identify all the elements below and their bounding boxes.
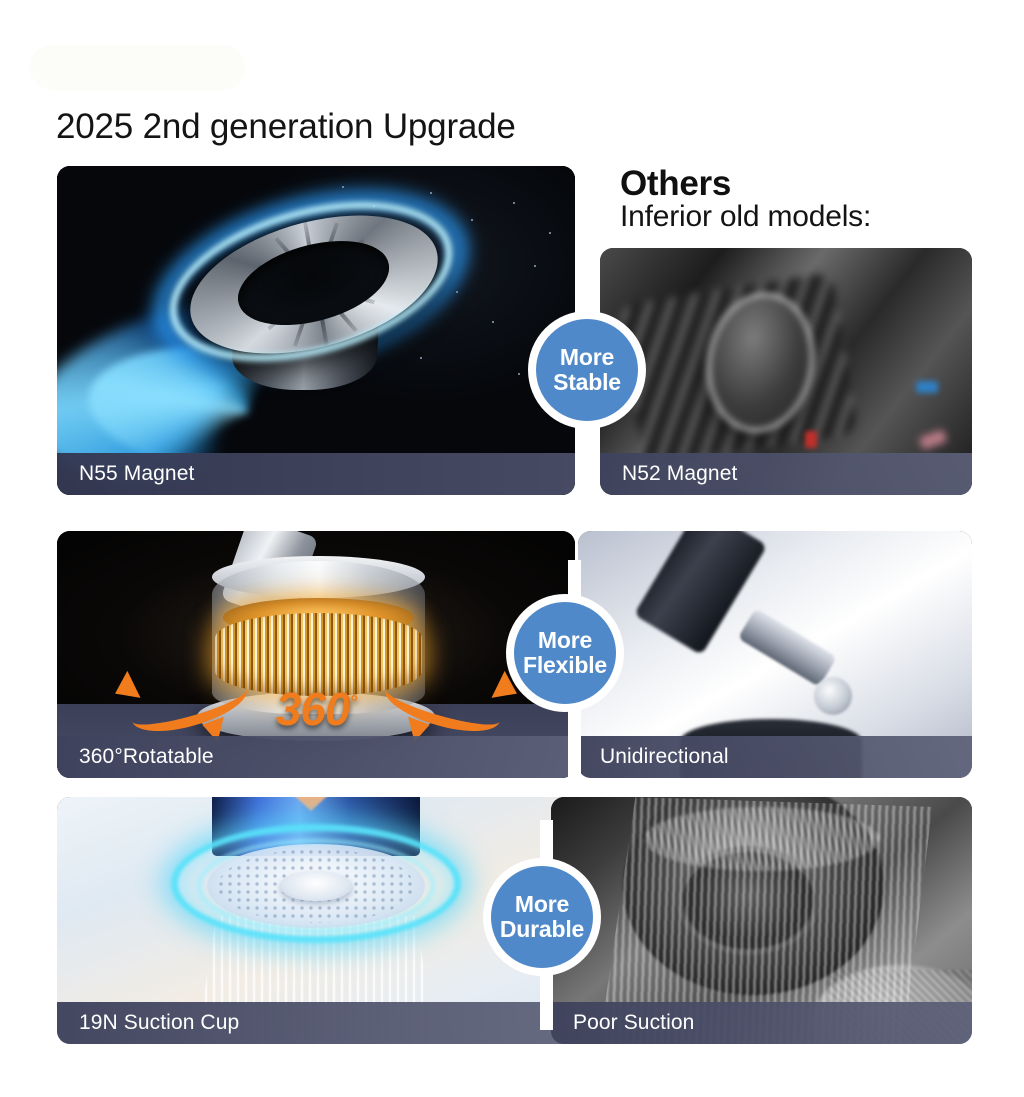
caption-360-rotatable: 360°Rotatable bbox=[57, 736, 575, 778]
card-ours-magnet[interactable]: N55 Magnet bbox=[57, 166, 575, 495]
background-smudge bbox=[30, 45, 245, 90]
caption-19n-suction-cup: 19N Suction Cup bbox=[57, 1002, 575, 1044]
card-theirs-suction[interactable]: Poor Suction bbox=[551, 797, 972, 1044]
others-heading: Others bbox=[620, 164, 731, 204]
caption-n52-magnet: N52 Magnet bbox=[600, 453, 972, 495]
image-n55-magnet bbox=[57, 166, 575, 495]
old-mount-link bbox=[737, 608, 836, 686]
dashboard-red-light bbox=[805, 431, 817, 448]
old-mount-joint bbox=[814, 677, 852, 715]
card-theirs-unidirectional[interactable]: Unidirectional bbox=[578, 531, 972, 778]
press-arrow-icon bbox=[285, 797, 337, 811]
badge-line2: Durable bbox=[500, 917, 584, 942]
page-title: 2025 2nd generation Upgrade bbox=[56, 107, 516, 147]
overlay-360-text: 360° bbox=[276, 682, 356, 736]
overlay-degree-symbol: ° bbox=[350, 692, 357, 713]
arrow-head-left bbox=[108, 671, 140, 707]
badge-line1: More bbox=[538, 628, 592, 653]
others-subheading: Inferior old models: bbox=[620, 200, 871, 234]
badge-more-stable[interactable]: More Stable bbox=[528, 311, 646, 429]
badge-line2: Flexible bbox=[523, 653, 607, 678]
badge-line2: Stable bbox=[553, 370, 621, 395]
badge-line1: More bbox=[515, 892, 569, 917]
overlay-360-value: 360 bbox=[276, 683, 350, 735]
card-theirs-magnet[interactable]: N52 Magnet bbox=[600, 248, 972, 495]
caption-n55-magnet: N55 Magnet bbox=[57, 453, 575, 495]
caption-unidirectional: Unidirectional bbox=[578, 736, 972, 778]
caption-poor-suction: Poor Suction bbox=[551, 1002, 972, 1044]
badge-more-durable[interactable]: More Durable bbox=[483, 858, 601, 976]
badge-line1: More bbox=[560, 345, 614, 370]
dashboard-blue-light bbox=[916, 381, 938, 393]
badge-more-flexible[interactable]: More Flexible bbox=[506, 594, 624, 712]
card-ours-rotatable[interactable]: 360° 360°Rotatable bbox=[57, 531, 575, 778]
infographic-page: 2025 2nd generation Upgrade Others Infer… bbox=[0, 0, 1024, 1097]
suction-center-nipple bbox=[280, 871, 353, 901]
